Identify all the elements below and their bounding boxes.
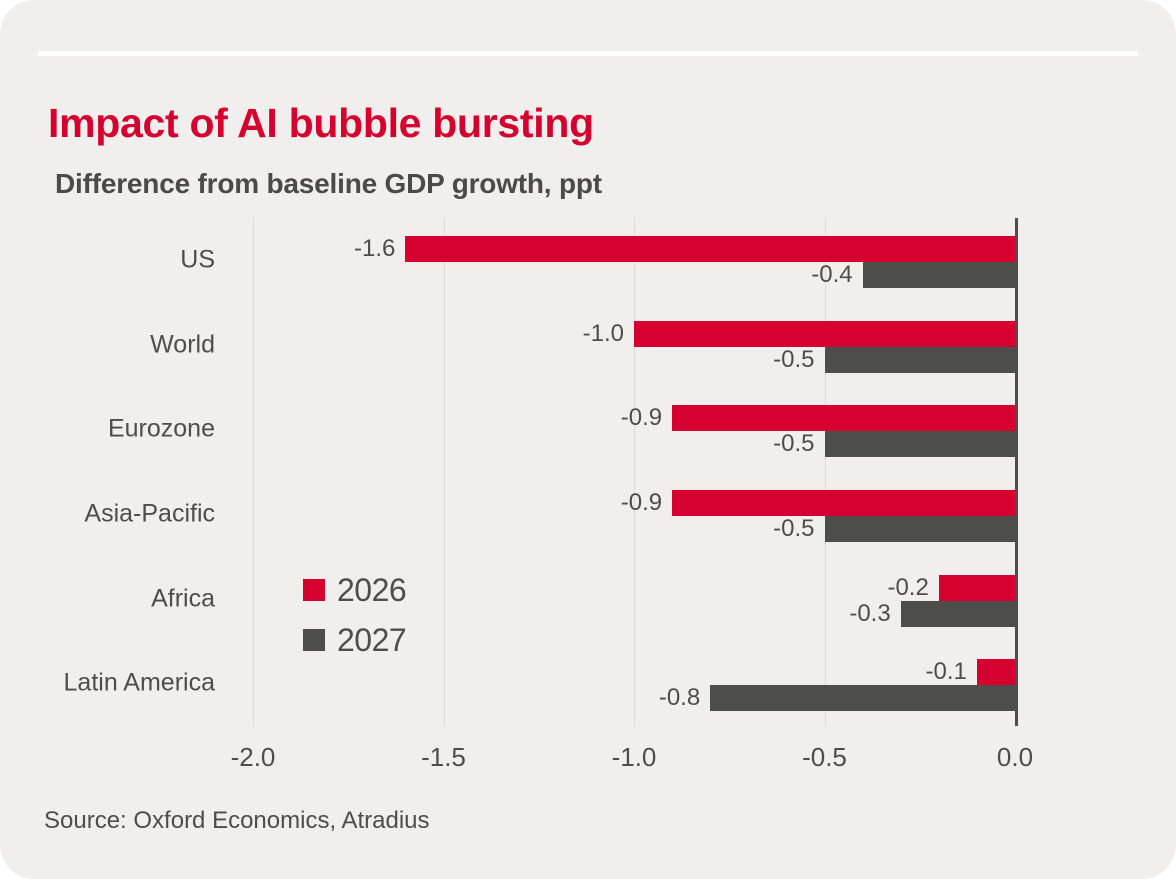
category-label: Africa xyxy=(0,584,215,613)
chart-title: Impact of AI bubble bursting xyxy=(48,100,594,147)
legend-swatch-icon xyxy=(303,629,325,651)
bar-value-label: -0.5 xyxy=(773,430,814,458)
bar-value-label: -0.9 xyxy=(621,489,662,517)
bar-group: -0.9-0.5 xyxy=(253,387,1015,472)
header-rule xyxy=(38,51,1138,56)
category-label: Latin America xyxy=(0,669,215,698)
legend-label: 2027 xyxy=(337,622,406,659)
x-axis-tick-label: -0.5 xyxy=(802,742,847,773)
bar-value-label: -0.3 xyxy=(849,600,890,628)
bar-2027[interactable] xyxy=(825,347,1016,373)
zero-axis-line xyxy=(1015,218,1018,726)
x-axis-tick-label: -2.0 xyxy=(231,742,276,773)
chart-legend: 20262027 xyxy=(303,565,406,665)
bar-value-label: -0.4 xyxy=(811,261,852,289)
chart-card: Impact of AI bubble bursting Difference … xyxy=(0,0,1176,879)
bar-value-label: -0.1 xyxy=(926,658,967,686)
bar-2027[interactable] xyxy=(710,685,1015,711)
legend-item-2027[interactable]: 2027 xyxy=(303,615,406,665)
bar-group: -0.9-0.5 xyxy=(253,472,1015,557)
bar-2027[interactable] xyxy=(825,431,1016,457)
bar-2026[interactable] xyxy=(939,575,1015,601)
legend-label: 2026 xyxy=(337,572,406,609)
bar-value-label: -0.9 xyxy=(621,404,662,432)
bar-2027[interactable] xyxy=(825,516,1016,542)
bar-2027[interactable] xyxy=(863,262,1015,288)
category-label: World xyxy=(0,330,215,359)
bar-value-label: -1.0 xyxy=(583,320,624,348)
bar-group: -1.6-0.4 xyxy=(253,218,1015,303)
bar-2026[interactable] xyxy=(405,236,1015,262)
bar-value-label: -0.5 xyxy=(773,346,814,374)
bar-2026[interactable] xyxy=(672,490,1015,516)
category-label: Asia-Pacific xyxy=(0,500,215,529)
bar-group: -1.0-0.5 xyxy=(253,303,1015,388)
legend-swatch-icon xyxy=(303,579,325,601)
x-axis-tick-label: -1.0 xyxy=(612,742,657,773)
bar-2027[interactable] xyxy=(901,601,1015,627)
source-note: Source: Oxford Economics, Atradius xyxy=(44,807,430,835)
bar-value-label: -0.8 xyxy=(659,684,700,712)
bar-value-label: -0.5 xyxy=(773,515,814,543)
category-label: Eurozone xyxy=(0,415,215,444)
bar-2026[interactable] xyxy=(977,659,1015,685)
bar-2026[interactable] xyxy=(634,321,1015,347)
category-label: US xyxy=(0,246,215,275)
bar-value-label: -0.2 xyxy=(887,574,928,602)
x-axis-tick-label: -1.5 xyxy=(421,742,466,773)
legend-item-2026[interactable]: 2026 xyxy=(303,565,406,615)
bar-value-label: -1.6 xyxy=(354,235,395,263)
chart-subtitle: Difference from baseline GDP growth, ppt xyxy=(55,168,602,200)
bar-2026[interactable] xyxy=(672,405,1015,431)
x-axis-tick-label: 0.0 xyxy=(997,742,1033,773)
